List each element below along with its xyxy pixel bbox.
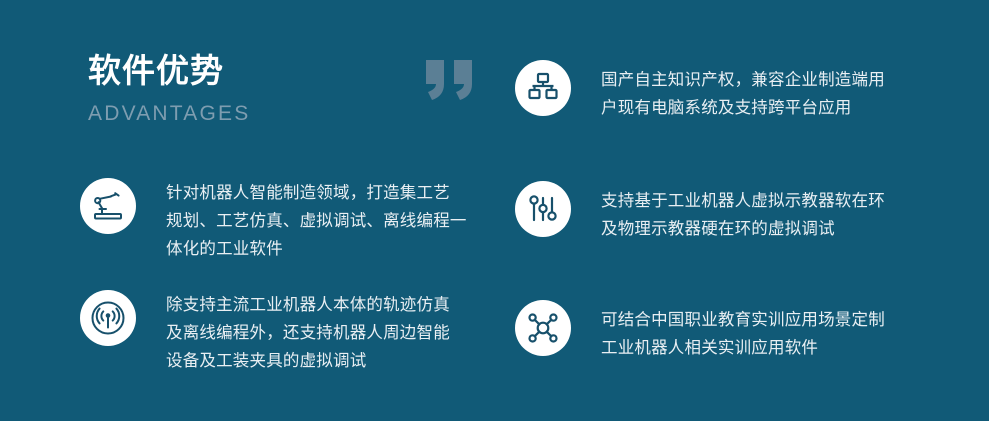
feature-line: 针对机器人智能制造领域，打造集工艺 xyxy=(166,179,467,207)
feature-line: 户现有电脑系统及支持跨平台应用 xyxy=(601,94,885,122)
quote-mark-icon xyxy=(424,58,480,102)
feature-line: 及离线编程外，还支持机器人周边智能 xyxy=(166,319,450,347)
node-hub-icon xyxy=(515,300,571,356)
signal-broadcast-icon xyxy=(80,290,136,346)
feature-line: 设备及工装夹具的虚拟调试 xyxy=(166,347,450,375)
feature-text: 针对机器人智能制造领域，打造集工艺 规划、工艺仿真、虚拟调试、离线编程一 体化的… xyxy=(166,178,467,263)
feature-line: 及物理示教器硬在环的虚拟调试 xyxy=(601,215,885,243)
feature-item: 可结合中国职业教育实训应用场景定制 工业机器人相关实训应用软件 xyxy=(515,300,935,362)
page-subtitle: ADVANTAGES xyxy=(88,102,488,126)
feature-text: 支持基于工业机器人虚拟示教器软在环 及物理示教器硬在环的虚拟调试 xyxy=(601,181,885,243)
feature-line: 除支持主流工业机器人本体的轨迹仿真 xyxy=(166,291,450,319)
feature-text: 国产自主知识产权，兼容企业制造端用 户现有电脑系统及支持跨平台应用 xyxy=(601,60,885,122)
feature-item: 针对机器人智能制造领域，打造集工艺 规划、工艺仿真、虚拟调试、离线编程一 体化的… xyxy=(80,178,500,263)
robot-arm-icon xyxy=(80,178,136,234)
network-topology-icon xyxy=(515,60,571,116)
feature-line: 体化的工业软件 xyxy=(166,235,467,263)
feature-text: 可结合中国职业教育实训应用场景定制 工业机器人相关实训应用软件 xyxy=(601,300,885,362)
sliders-icon xyxy=(515,181,571,237)
feature-line: 规划、工艺仿真、虚拟调试、离线编程一 xyxy=(166,207,467,235)
feature-item: 支持基于工业机器人虚拟示教器软在环 及物理示教器硬在环的虚拟调试 xyxy=(515,181,935,243)
feature-line: 工业机器人相关实训应用软件 xyxy=(601,334,885,362)
feature-text: 除支持主流工业机器人本体的轨迹仿真 及离线编程外，还支持机器人周边智能 设备及工… xyxy=(166,290,450,375)
feature-line: 支持基于工业机器人虚拟示教器软在环 xyxy=(601,187,885,215)
feature-item: 国产自主知识产权，兼容企业制造端用 户现有电脑系统及支持跨平台应用 xyxy=(515,60,935,122)
feature-line: 国产自主知识产权，兼容企业制造端用 xyxy=(601,66,885,94)
feature-item: 除支持主流工业机器人本体的轨迹仿真 及离线编程外，还支持机器人周边智能 设备及工… xyxy=(80,290,500,375)
feature-line: 可结合中国职业教育实训应用场景定制 xyxy=(601,306,885,334)
